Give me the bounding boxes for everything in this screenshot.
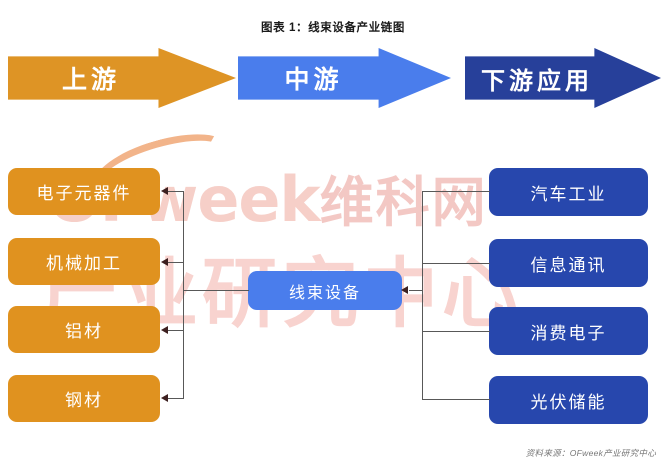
- stage-arrow-downstream: 下游应用: [465, 48, 661, 108]
- connector-right-spine: [422, 191, 423, 399]
- stage-arrow-upstream: 上游: [8, 48, 236, 108]
- node-label: 电子元器件: [37, 179, 132, 204]
- upstream-node-steel: 钢材: [8, 375, 160, 422]
- connector-left-arrowhead-4: [161, 394, 168, 402]
- upstream-node-electronic-components: 电子元器件: [8, 168, 160, 215]
- upstream-node-machining: 机械加工: [8, 238, 160, 285]
- node-label: 光伏储能: [531, 388, 607, 413]
- connector-left-trunk: [183, 290, 249, 291]
- connector-right-branch-1: [422, 191, 490, 192]
- node-label: 钢材: [65, 386, 103, 411]
- connector-left-branch-3: [168, 330, 183, 331]
- stage-label-upstream: 上游: [62, 60, 182, 96]
- upstream-node-aluminum: 铝材: [8, 306, 160, 353]
- connector-left-spine: [183, 191, 184, 399]
- connector-left-branch-1: [168, 191, 183, 192]
- downstream-node-consumer-electronics: 消费电子: [489, 307, 648, 355]
- node-label: 铝材: [65, 317, 103, 342]
- connector-right-branch-3: [422, 331, 490, 332]
- connector-right-arrowhead: [401, 286, 408, 294]
- downstream-node-pv-storage: 光伏储能: [489, 376, 648, 424]
- node-label: 线束设备: [289, 279, 361, 303]
- node-label: 汽车工业: [531, 180, 607, 205]
- chain-diagram-canvas: OFweek维科网 产业研究中心 图表 1：线束设备产业链图 上游 中游 下游应…: [0, 0, 666, 467]
- connector-left-branch-2: [168, 262, 183, 263]
- node-label: 信息通讯: [531, 251, 607, 276]
- connector-right-trunk: [409, 290, 422, 291]
- connector-right-branch-2: [422, 263, 490, 264]
- stage-arrow-midstream: 中游: [238, 48, 451, 108]
- figure-title: 图表 1：线束设备产业链图: [0, 19, 666, 35]
- downstream-node-automotive: 汽车工业: [489, 168, 648, 216]
- watermark-brand-cn: 维科网: [320, 171, 488, 234]
- connector-left-arrowhead-1: [161, 187, 168, 195]
- connector-left-branch-4: [168, 398, 183, 399]
- connector-left-arrowhead-3: [161, 326, 168, 334]
- midstream-node-wire-harness-equipment: 线束设备: [248, 271, 402, 310]
- node-label: 消费电子: [531, 319, 607, 344]
- connector-left-arrowhead-2: [161, 258, 168, 266]
- connector-right-branch-4: [422, 399, 490, 400]
- stage-label-downstream: 下游应用: [481, 61, 645, 96]
- downstream-node-ict: 信息通讯: [489, 239, 648, 287]
- node-label: 机械加工: [46, 249, 122, 274]
- stage-label-midstream: 中游: [284, 60, 404, 96]
- source-note: 资料来源：OFweek产业研究中心: [526, 447, 656, 459]
